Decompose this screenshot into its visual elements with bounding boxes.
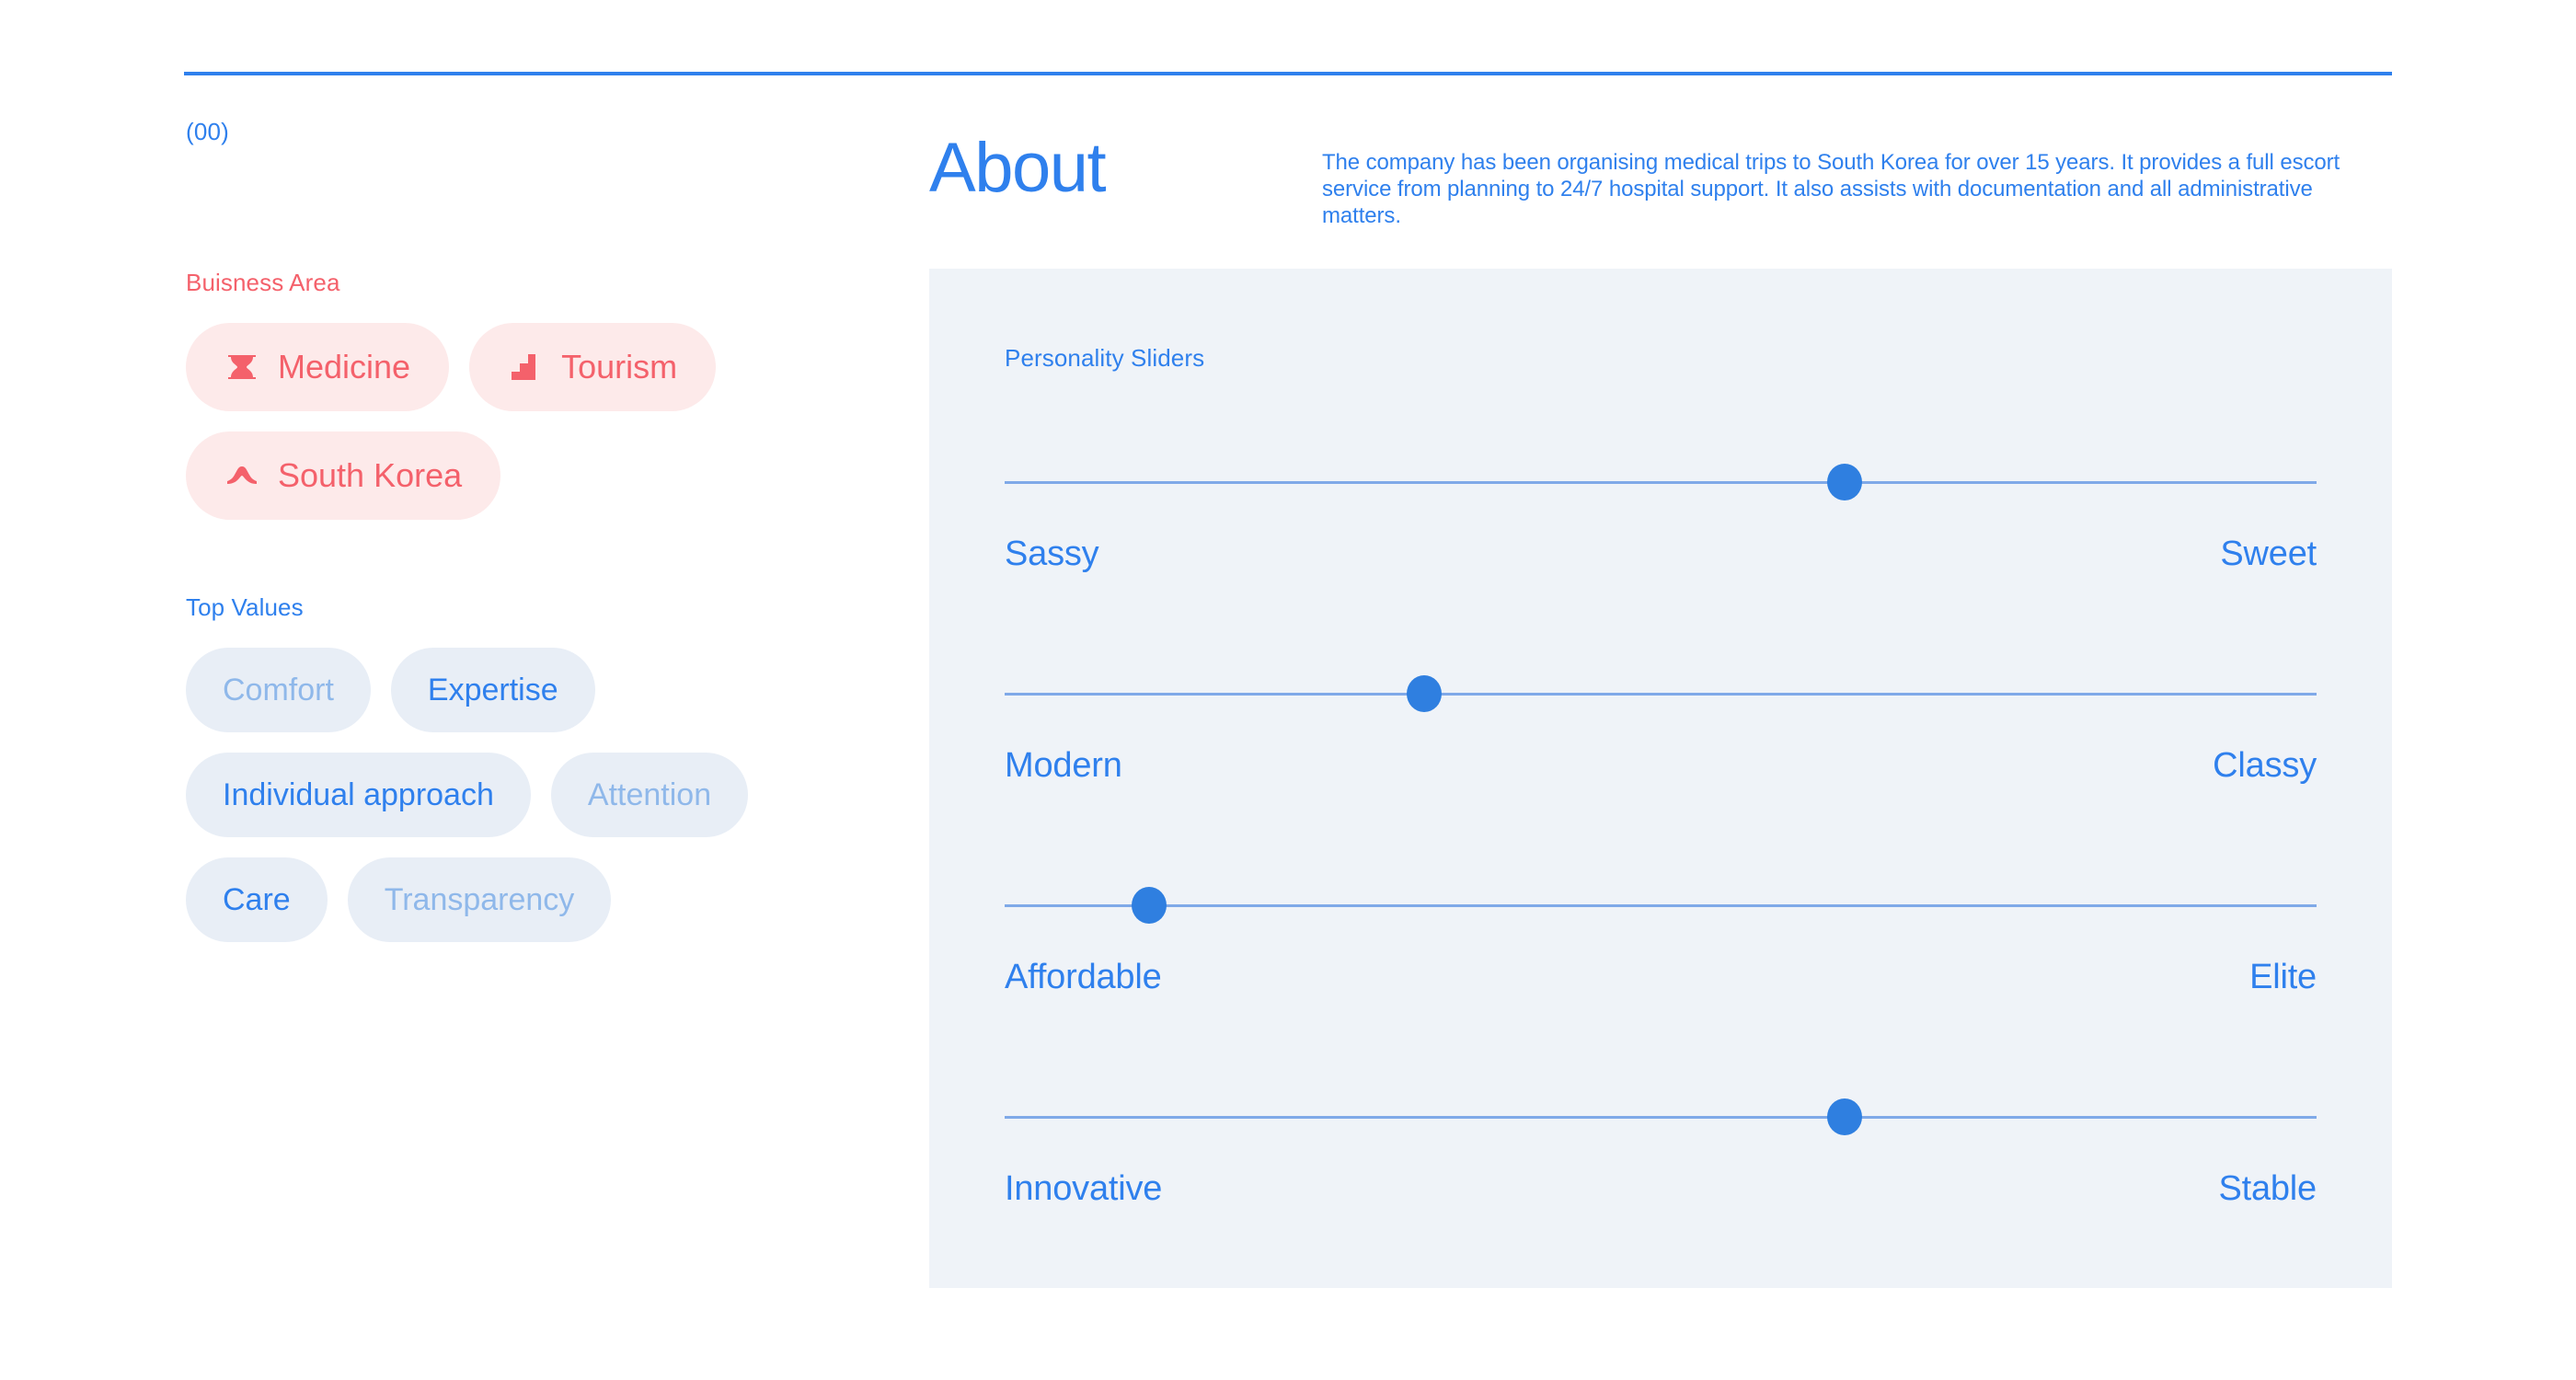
slider-track-wrap[interactable] <box>1005 464 2317 500</box>
business-area-heading: Buisness Area <box>186 269 885 297</box>
chip-label: Expertise <box>428 673 558 708</box>
slider-right-label: Elite <box>2249 958 2317 997</box>
mountain-icon <box>224 458 259 493</box>
chip-attention[interactable]: Attention <box>551 753 748 837</box>
slider-track-wrap[interactable] <box>1005 887 2317 924</box>
slider-track <box>1005 693 2317 696</box>
slider-labels: Innovative Stable <box>1005 1169 2317 1209</box>
slider-affordable-elite: Affordable Elite <box>1005 887 2317 1098</box>
left-column: Buisness Area Medicine Tourism <box>186 269 885 942</box>
slider-right-label: Classy <box>2213 746 2317 786</box>
slider-labels: Modern Classy <box>1005 746 2317 786</box>
chip-medicine[interactable]: Medicine <box>186 323 449 411</box>
slider-left-label: Innovative <box>1005 1169 1162 1209</box>
slider-track <box>1005 1116 2317 1119</box>
slider-innovative-stable: Innovative Stable <box>1005 1098 2317 1310</box>
hourglass-icon <box>224 350 259 385</box>
chip-label: South Korea <box>278 456 462 495</box>
slider-sassy-sweet: Sassy Sweet <box>1005 464 2317 675</box>
slider-thumb[interactable] <box>1827 1098 1862 1135</box>
page-title: About <box>929 133 1105 203</box>
slider-track <box>1005 481 2317 484</box>
chip-expertise[interactable]: Expertise <box>391 648 595 732</box>
business-area-block: Buisness Area Medicine Tourism <box>186 269 885 520</box>
slider-labels: Sassy Sweet <box>1005 535 2317 574</box>
chip-transparency[interactable]: Transparency <box>348 857 612 942</box>
slider-right-label: Stable <box>2218 1169 2317 1209</box>
chip-label: Individual approach <box>223 777 494 813</box>
slider-track-wrap[interactable] <box>1005 675 2317 712</box>
slider-modern-classy: Modern Classy <box>1005 675 2317 887</box>
chip-label: Comfort <box>223 673 334 708</box>
business-area-chip-row: Medicine Tourism South Korea <box>186 323 885 520</box>
stairs-icon <box>508 350 543 385</box>
chip-label: Care <box>223 882 291 918</box>
personality-sliders-panel: Personality Sliders Sassy Sweet Modern C… <box>929 269 2392 1288</box>
slider-list: Sassy Sweet Modern Classy Affordable Eli… <box>1005 464 2317 1310</box>
header-divider <box>184 72 2392 75</box>
slider-labels: Affordable Elite <box>1005 958 2317 997</box>
chip-label: Transparency <box>385 882 575 918</box>
slider-track <box>1005 904 2317 907</box>
chip-comfort[interactable]: Comfort <box>186 648 371 732</box>
slider-thumb[interactable] <box>1827 464 1862 500</box>
slider-right-label: Sweet <box>2220 535 2317 574</box>
top-values-chip-row: Comfort Expertise Individual approach At… <box>186 648 885 942</box>
slider-left-label: Sassy <box>1005 535 1098 574</box>
top-values-heading: Top Values <box>186 593 885 622</box>
slider-thumb[interactable] <box>1407 675 1442 712</box>
section-index-label: (00) <box>186 118 229 146</box>
chip-label: Tourism <box>561 348 677 386</box>
slider-track-wrap[interactable] <box>1005 1098 2317 1135</box>
chip-individual-approach[interactable]: Individual approach <box>186 753 531 837</box>
chip-label: Attention <box>588 777 711 813</box>
slider-left-label: Affordable <box>1005 958 1162 997</box>
chip-tourism[interactable]: Tourism <box>469 323 716 411</box>
personality-sliders-heading: Personality Sliders <box>1005 344 1204 373</box>
chip-care[interactable]: Care <box>186 857 328 942</box>
slider-left-label: Modern <box>1005 746 1122 786</box>
slider-thumb[interactable] <box>1132 887 1167 924</box>
top-values-block: Top Values Comfort Expertise Individual … <box>186 593 885 942</box>
chip-south-korea[interactable]: South Korea <box>186 431 500 520</box>
page-description: The company has been organising medical … <box>1322 149 2380 229</box>
chip-label: Medicine <box>278 348 410 386</box>
